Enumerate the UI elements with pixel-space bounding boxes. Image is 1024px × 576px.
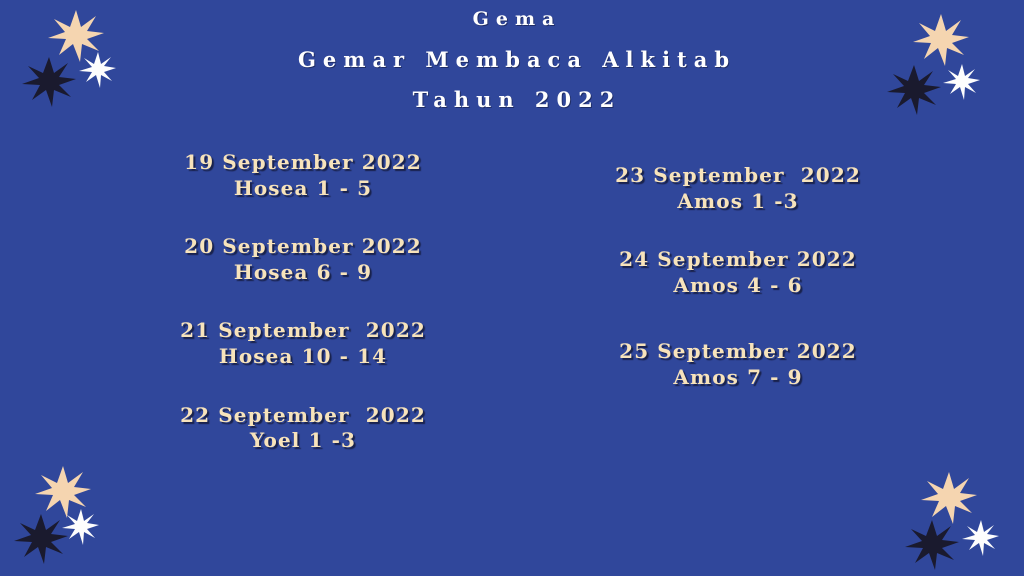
flower-peach-icon [35, 466, 91, 518]
entry-date: 22 September 2022 [118, 403, 488, 429]
flower-white-icon [943, 64, 980, 100]
flower-peach-icon [913, 14, 969, 66]
flower-dark-icon [887, 65, 941, 115]
entry-date: 24 September 2022 [553, 247, 923, 273]
schedule-entry: 23 September 2022 Amos 1 -3 [553, 163, 923, 214]
flower-dark-icon [14, 514, 68, 564]
schedule-entry: 22 September 2022 Yoel 1 -3 [118, 403, 488, 454]
flower-peach-icon [921, 472, 977, 524]
flower-cluster-bottom-right [884, 450, 1024, 576]
entry-passage: Amos 1 -3 [553, 189, 923, 215]
schedule-entry: 24 September 2022 Amos 4 - 6 [553, 247, 923, 298]
entry-date: 19 September 2022 [118, 150, 488, 176]
flower-dark-icon [22, 57, 76, 107]
schedule-entry: 25 September 2022 Amos 7 - 9 [553, 339, 923, 390]
entry-passage: Hosea 10 - 14 [118, 344, 488, 370]
flower-dark-icon [905, 520, 959, 570]
entry-passage: Amos 4 - 6 [553, 273, 923, 299]
entry-passage: Yoel 1 -3 [118, 428, 488, 454]
flower-white-icon [79, 52, 116, 88]
flower-cluster-top-left [8, 2, 148, 132]
schedule-entry: 19 September 2022 Hosea 1 - 5 [118, 150, 488, 201]
schedule-entry: 21 September 2022 Hosea 10 - 14 [118, 318, 488, 369]
entry-date: 20 September 2022 [118, 234, 488, 260]
entry-date: 25 September 2022 [553, 339, 923, 365]
schedule-entry: 20 September 2022 Hosea 6 - 9 [118, 234, 488, 285]
flower-cluster-top-right [876, 2, 1016, 132]
entry-passage: Hosea 6 - 9 [118, 260, 488, 286]
entry-passage: Amos 7 - 9 [553, 365, 923, 391]
reading-schedule: 19 September 2022 Hosea 1 - 5 20 Septemb… [0, 0, 1024, 576]
schedule-column-left: 19 September 2022 Hosea 1 - 5 20 Septemb… [118, 150, 488, 454]
entry-date: 23 September 2022 [553, 163, 923, 189]
entry-passage: Hosea 1 - 5 [118, 176, 488, 202]
flower-cluster-bottom-left [8, 444, 148, 574]
schedule-column-right: 23 September 2022 Amos 1 -3 24 September… [553, 163, 923, 391]
flower-white-icon [62, 509, 99, 545]
flower-white-icon [962, 520, 999, 556]
flower-peach-icon [48, 10, 104, 62]
entry-date: 21 September 2022 [118, 318, 488, 344]
